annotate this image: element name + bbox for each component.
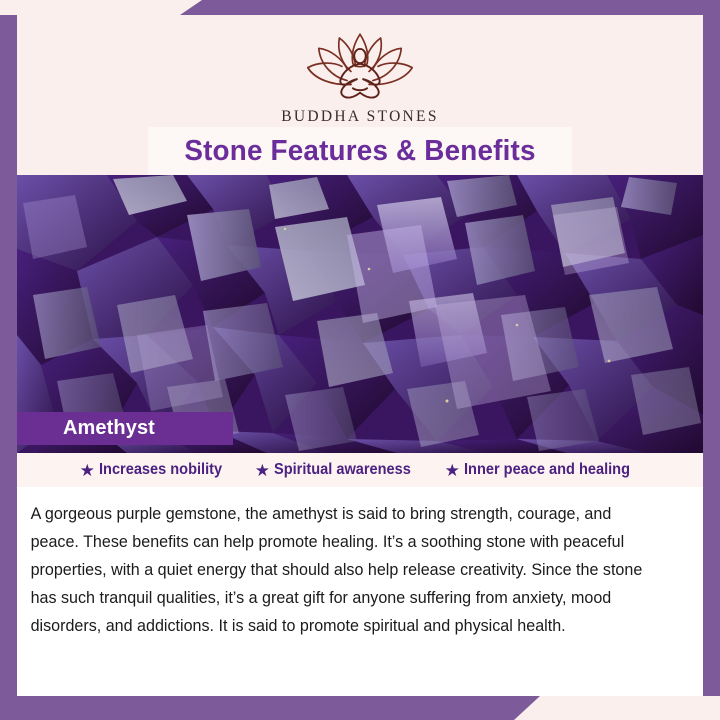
benefit-item: ★ Spiritual awareness	[255, 461, 420, 479]
amethyst-crystal-cluster-photo: Amethyst	[17, 175, 703, 453]
star-icon: ★	[445, 462, 460, 479]
frame-band-top	[180, 0, 720, 15]
frame-band-bottom	[0, 696, 540, 720]
header: BUDDHA STONES Stone Features & Benefits	[17, 15, 703, 175]
benefit-item: ★ Inner peace and healing	[445, 461, 641, 479]
stone-name-label: Amethyst	[63, 417, 155, 440]
frame-band-right	[703, 15, 720, 696]
infographic-card: BUDDHA STONES Stone Features & Benefits	[0, 0, 720, 720]
content-sheet: BUDDHA STONES Stone Features & Benefits	[17, 15, 703, 696]
stone-name-banner: Amethyst	[17, 412, 233, 445]
page-title: Stone Features & Benefits	[184, 135, 535, 168]
lotus-meditation-icon	[295, 29, 425, 105]
frame-band-left	[0, 15, 17, 720]
star-icon: ★	[255, 462, 270, 479]
title-plate: Stone Features & Benefits	[148, 127, 572, 175]
benefit-label: Inner peace and healing	[464, 461, 630, 479]
benefits-list: ★ Increases nobility ★ Spiritual awarene…	[17, 453, 703, 487]
stone-description: A gorgeous purple gemstone, the amethyst…	[17, 487, 682, 640]
benefit-label: Increases nobility	[99, 461, 222, 479]
star-icon: ★	[80, 462, 95, 479]
benefit-item: ★ Increases nobility	[80, 461, 230, 479]
body-zone: ★ Increases nobility ★ Spiritual awarene…	[17, 453, 703, 640]
benefit-label: Spiritual awareness	[274, 461, 411, 479]
brand-name: BUDDHA STONES	[281, 108, 439, 126]
